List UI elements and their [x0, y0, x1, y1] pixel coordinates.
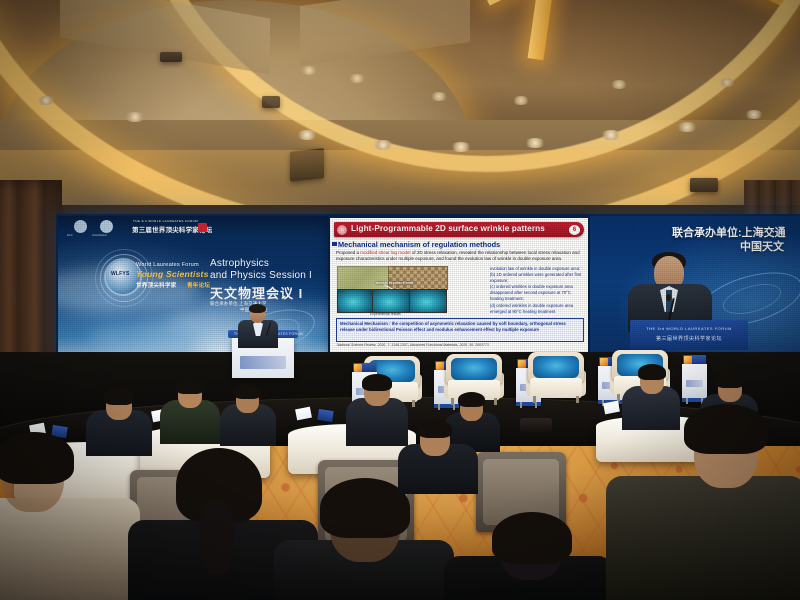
wlfys-badge-label: WLFYS — [111, 271, 130, 277]
slide-note-b: (b) 1D ordered wrinkles were generated a… — [490, 272, 584, 284]
video-podium: THE 3rd WORLD LAUREATES FORUM 第三届世界顶尖科学家… — [630, 320, 748, 350]
slide-section-heading: Mechanical mechanism of regulation metho… — [338, 240, 500, 249]
downlight — [124, 112, 146, 122]
slide-page-number: 6 — [569, 225, 580, 235]
slide-3d-plot-b — [337, 289, 373, 313]
banner-logo-cn-line2: 青年论坛 — [187, 281, 210, 289]
org-logo-1 — [74, 220, 87, 233]
slide-title-icon — [337, 225, 347, 235]
downlight — [744, 110, 764, 119]
ceiling-speaker — [262, 96, 280, 108]
banner-logo-en-line2: Young Scientists — [136, 269, 209, 279]
downlight — [524, 138, 546, 148]
banner-logo-en-line1: World Laureates Forum — [136, 262, 199, 268]
slide-micrograph-b — [388, 266, 448, 290]
podium-logo — [240, 356, 286, 369]
slide-paragraph-highlight: modified shear lag model — [360, 250, 410, 255]
downlight — [610, 80, 628, 89]
org-logo-2-caption: SHANGHAI — [92, 234, 107, 237]
slide-note-c: (c) ordered wrinkles in double exposure … — [490, 284, 584, 302]
slide-title: Light-Programmable 2D surface wrinkle pa… — [351, 224, 545, 233]
slide-image-overlay-label: double exposure area — [376, 281, 413, 285]
slide-paragraph-prefix: Proposed a — [336, 250, 360, 255]
slide-conclusion: Mechanical Mechanism : the competition o… — [340, 321, 580, 333]
speaker-hair — [249, 304, 266, 313]
forum-mark-en: THE 3rd WORLD LAUREATES FORUM — [133, 219, 198, 223]
ceiling-speaker — [160, 52, 182, 62]
slide-title-bar: Light-Programmable 2D surface wrinkle pa… — [334, 222, 584, 237]
org-logo-2 — [100, 220, 113, 233]
slide-3d-plot-d — [409, 289, 447, 313]
conference-hall-photo: WLF SHANGHAI THE 3rd WORLD LAUREATES FOR… — [0, 0, 800, 600]
slide-note-d: (d) ordered wrinkles in double exposure … — [490, 303, 584, 315]
video-podium-text-en: THE 3rd WORLD LAUREATES FORUM — [630, 326, 748, 331]
downlight — [36, 96, 56, 105]
session-title-cn: 天文物理会议 I — [210, 283, 303, 302]
slide-right-notes: evolution law of wrinkle in double expos… — [490, 266, 584, 315]
downlight — [512, 96, 530, 105]
downlight — [300, 66, 318, 75]
slide-bullet-marker — [332, 242, 337, 247]
led-panel-right-video: 联合承办单位:上海交通 中国天文 THE 3rd WORLD LAUREATES… — [590, 216, 800, 364]
name-card — [317, 409, 334, 422]
slide-conclusion-label: Mechanical Mechanism : — [340, 321, 390, 326]
video-caption-line2: 中国天文 — [740, 238, 784, 254]
downlight — [718, 78, 736, 87]
video-podium-text-cn: 第三届世界顶尖科学家论坛 — [630, 335, 748, 342]
slide-conclusion-box: Mechanical Mechanism : the competition o… — [336, 318, 584, 342]
session-title-en-line1: Astrophysics — [210, 258, 269, 269]
session-title-en-line2: and Physics Session I — [210, 270, 312, 281]
org-logo-1-caption: WLF — [67, 234, 73, 237]
forum-mark-redblock — [198, 223, 207, 232]
slide-3d-plot-c — [372, 289, 410, 313]
equipment-bag — [520, 418, 552, 432]
downlight — [600, 130, 622, 140]
banner-logo-cn-line1: 世界顶尖科学家 — [136, 281, 177, 289]
slide-citation: National Science Review, 2020, 7: 1349-1… — [337, 343, 489, 347]
downlight — [348, 74, 366, 83]
slide-micrograph-a — [337, 266, 389, 290]
presentation-slide: Light-Programmable 2D surface wrinkle pa… — [330, 218, 588, 358]
slide-figure-caption: Experimental results — [370, 312, 401, 316]
wall-uplight-glow — [0, 150, 800, 220]
downlight — [372, 140, 394, 150]
slide-paragraph: Proposed a modified shear lag model of 2… — [336, 250, 584, 263]
downlight — [430, 92, 448, 101]
downlight — [296, 130, 318, 140]
video-microphone-head — [666, 294, 671, 301]
downlight — [676, 122, 698, 132]
